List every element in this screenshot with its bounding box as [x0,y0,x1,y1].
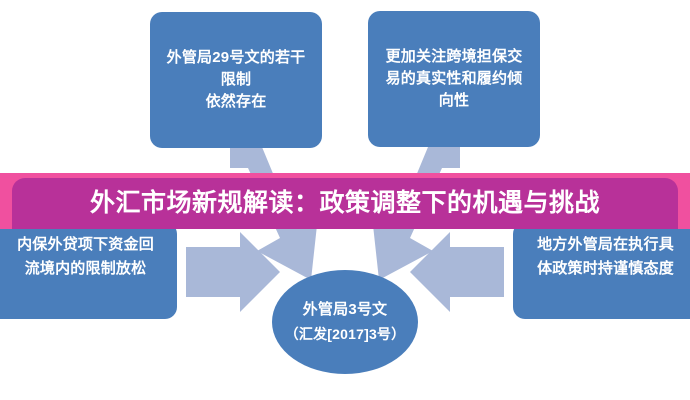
node-top-left-line-2: 限制 [160,69,312,91]
node-top-right-lines: 更加关注跨境担保交 易的真实性和履约倾 向性 [368,46,540,112]
banner-title-text: 外汇市场新规解读：政策调整下的机遇与挑战 [0,173,690,229]
node-left-lines: 内保外贷项下资金回 流境内的限制放松 [0,233,177,281]
center-node[interactable]: 外管局3号文 （汇发[2017]3号） [272,270,418,374]
diagram-canvas: 外管局3号文 （汇发[2017]3号） 外管局29号文的若干 限制 依然存在 更… [0,0,690,400]
node-top-left-line-3: 依然存在 [160,91,312,113]
node-left-line-1: 内保外贷项下资金回 [4,233,167,257]
node-top-right[interactable]: 更加关注跨境担保交 易的真实性和履约倾 向性 [368,11,540,147]
node-left[interactable]: 内保外贷项下资金回 流境内的限制放松 [0,222,177,319]
node-left-line-2: 流境内的限制放松 [4,257,167,281]
node-top-left-lines: 外管局29号文的若干 限制 依然存在 [150,47,322,113]
title-banner: 外汇市场新规解读：政策调整下的机遇与挑战 [0,173,690,229]
node-right[interactable]: 地方外管局在执行具 体政策时持谨慎态度 [513,222,690,319]
node-top-right-line-1: 更加关注跨境担保交 [378,46,530,68]
node-top-left[interactable]: 外管局29号文的若干 限制 依然存在 [150,12,322,148]
arrow-left-to-center [186,232,280,312]
node-right-lines: 地方外管局在执行具 体政策时持谨慎态度 [513,233,690,281]
center-node-line-2: （汇发[2017]3号） [282,322,408,347]
node-right-line-2: 体政策时持谨慎态度 [523,257,688,281]
node-top-right-line-2: 易的真实性和履约倾 [378,68,530,90]
node-top-right-line-3: 向性 [378,90,530,112]
node-top-left-line-1: 外管局29号文的若干 [160,47,312,69]
node-right-line-1: 地方外管局在执行具 [523,233,688,257]
center-node-lines: 外管局3号文 （汇发[2017]3号） [272,297,418,347]
arrow-right-to-center [410,232,504,312]
center-node-line-1: 外管局3号文 [282,297,408,322]
